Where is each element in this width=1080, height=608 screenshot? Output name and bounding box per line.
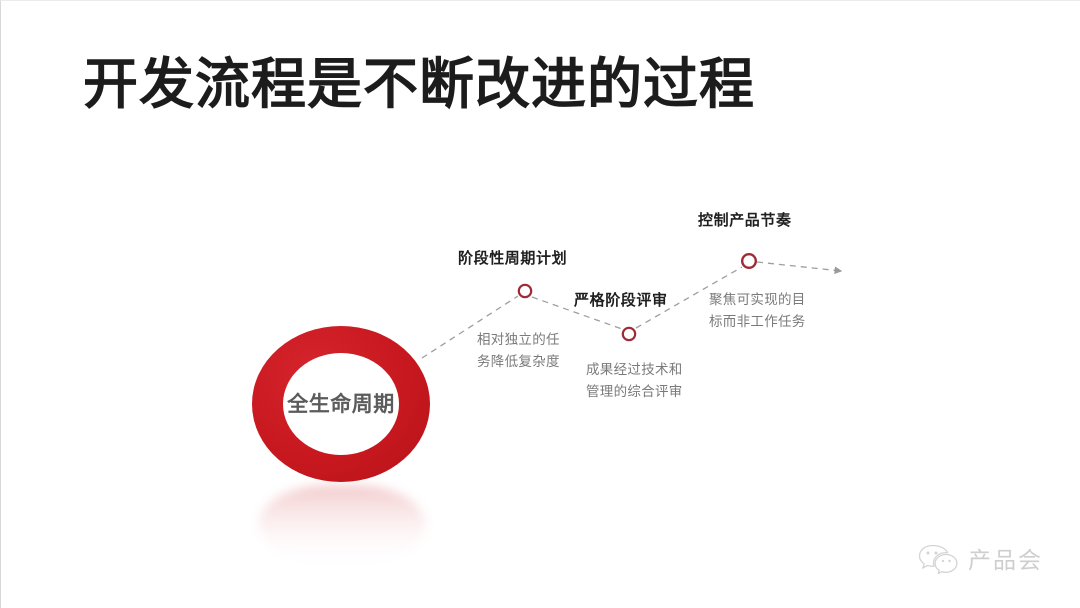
watermark-text: 产品会	[968, 541, 1043, 575]
step-heading-3: 控制产品节奏	[698, 209, 792, 230]
step-subtext-3-line-1: 聚焦可实现的目	[709, 289, 806, 311]
step-subtext-2-line-1: 成果经过技术和	[586, 359, 683, 381]
step-marker-3[interactable]	[742, 254, 756, 268]
step-heading-1: 阶段性周期计划	[458, 247, 567, 268]
step-marker-2[interactable]	[623, 328, 635, 340]
lifecycle-donut[interactable]: 全生命周期	[252, 326, 430, 482]
donut-reflection	[259, 485, 425, 563]
watermark: 产品会	[917, 541, 1043, 575]
step-subtext-3: 聚焦可实现的目 标而非工作任务	[709, 289, 806, 334]
step-subtext-1-line-1: 相对独立的任	[477, 329, 560, 351]
donut-label: 全生命周期	[252, 388, 430, 418]
wechat-icon	[917, 542, 959, 574]
slide-canvas: 开发流程是不断改进的过程 全生命周期 阶段性周期计划 相对独立的任 务降低复杂度	[0, 0, 1080, 608]
step-subtext-1: 相对独立的任 务降低复杂度	[477, 329, 560, 374]
step-subtext-3-line-2: 标而非工作任务	[709, 311, 806, 333]
page-title: 开发流程是不断改进的过程	[83, 53, 755, 116]
connector-segment-4	[757, 262, 841, 271]
step-subtext-1-line-2: 务降低复杂度	[477, 351, 560, 373]
step-subtext-2: 成果经过技术和 管理的综合评审	[586, 359, 683, 404]
step-subtext-2-line-2: 管理的综合评审	[586, 381, 683, 403]
step-marker-1[interactable]	[519, 285, 531, 297]
step-heading-2: 严格阶段评审	[574, 289, 668, 310]
